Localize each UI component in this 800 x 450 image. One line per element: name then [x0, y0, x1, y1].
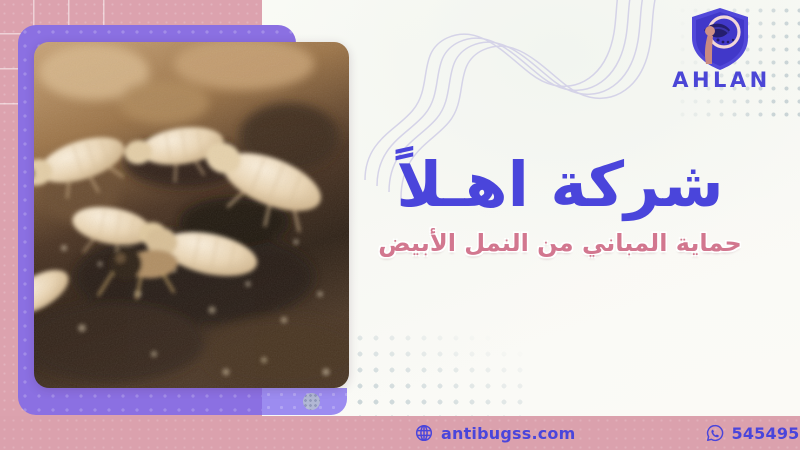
hero-text-block: شركة اهـلاً حماية المباني من النمل الأبي…	[350, 150, 770, 258]
phone-contact[interactable]: 545495578	[706, 424, 800, 443]
globe-icon	[415, 424, 433, 442]
website-contact[interactable]: antibugss.com	[415, 424, 576, 443]
dotted-badge-decoration	[303, 393, 320, 410]
termite-photo	[34, 42, 349, 388]
whatsapp-icon	[706, 424, 724, 442]
page-title: شركة اهـلاً	[350, 150, 770, 219]
brand-name: AHLAN	[664, 70, 776, 91]
page-subtitle: حماية المباني من النمل الأبيض	[350, 229, 770, 258]
halftone-dots-bottom-left	[352, 330, 527, 420]
contact-footer-bar: antibugss.com 545495578	[0, 416, 800, 450]
brand-logo: AHLAN	[664, 6, 776, 102]
promo-banner: AHLAN شركة اهـلاً حماية المباني من النمل…	[0, 0, 800, 450]
website-label: antibugss.com	[441, 424, 576, 443]
phone-label: 545495578	[732, 424, 800, 443]
shield-sprayer-icon	[664, 6, 776, 72]
